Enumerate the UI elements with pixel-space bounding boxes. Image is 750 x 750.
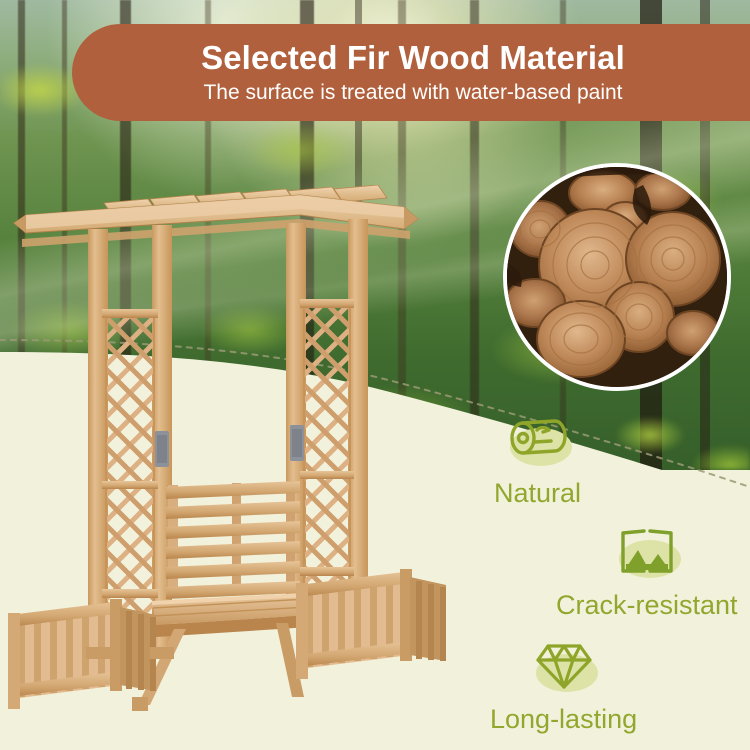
bench-backrest <box>166 481 300 599</box>
feature-crack-resistant: Crack-resistant <box>556 516 738 621</box>
feature-label: Crack-resistant <box>556 590 738 621</box>
banner-subtitle: The surface is treated with water-based … <box>203 82 622 104</box>
feature-label: Long-lasting <box>490 704 637 735</box>
log-icon <box>496 404 580 474</box>
broken-frame-icon <box>605 516 689 586</box>
banner-title: Selected Fir Wood Material <box>201 41 625 76</box>
header-banner: Selected Fir Wood Material The surface i… <box>72 24 750 121</box>
left-planter-box <box>8 599 156 709</box>
diamond-icon <box>522 630 606 700</box>
product-marketing-image: Selected Fir Wood Material The surface i… <box>0 0 750 750</box>
feature-natural: Natural <box>494 404 581 509</box>
product-illustration <box>0 185 470 725</box>
right-planter-box <box>296 569 446 679</box>
log-inset-photo <box>503 163 731 391</box>
feature-long-lasting: Long-lasting <box>490 630 637 735</box>
feature-label: Natural <box>494 478 581 509</box>
left-post-assembly <box>88 225 172 649</box>
